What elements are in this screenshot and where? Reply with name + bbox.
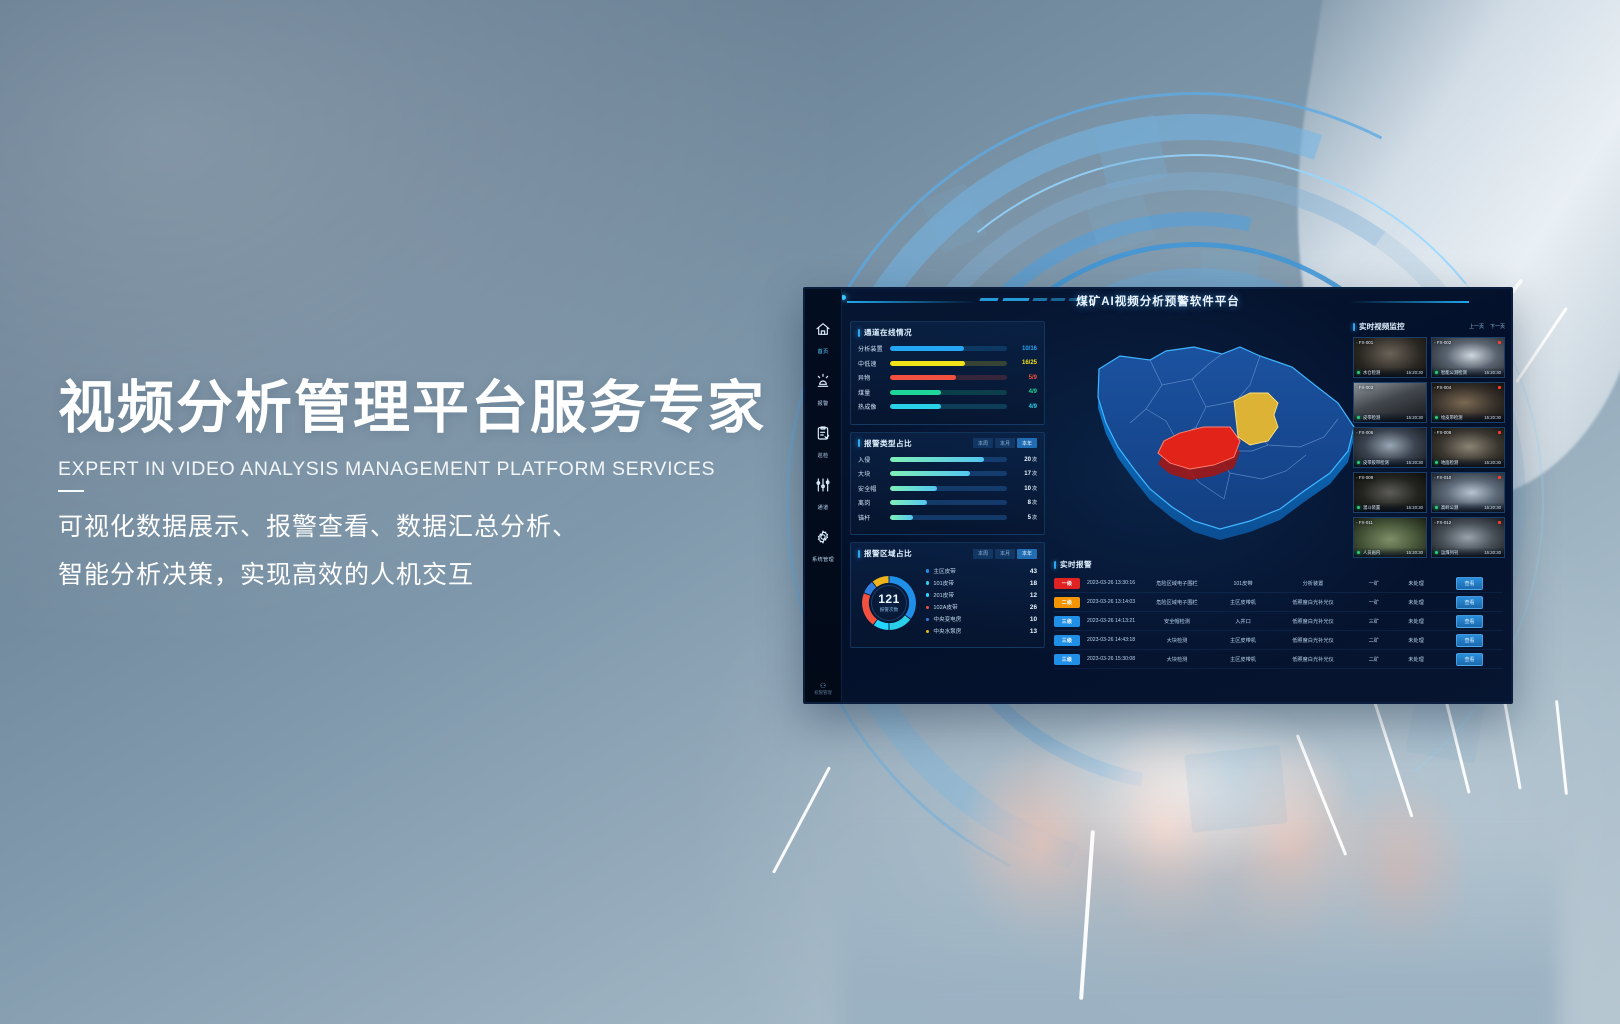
alarm-type: 安全帽检测	[1142, 618, 1212, 625]
sidebar-label: 报警	[818, 401, 829, 407]
alarm-channel: 主区皮带机	[1212, 637, 1274, 644]
alarm-type-value: 20次	[1007, 456, 1037, 463]
video-grid: FX-001水仓检测15:20:30FX-002智能公测检测15:20:30FX…	[1353, 337, 1505, 558]
video-cell[interactable]: FX-001水仓检测15:20:30	[1353, 337, 1427, 378]
alarm-type-bar	[890, 500, 1007, 505]
alarm-type-name: 入侵	[858, 455, 890, 464]
alarm-type-card: 报警类型占比 本周本月本年 入侵20次大块17次安全帽10次离岗8次锚杆5次	[850, 432, 1045, 536]
legend-label: 中央水泵房	[933, 627, 1030, 635]
channel-value: 4/9	[1007, 404, 1037, 410]
alarm-channel: 入井口	[1212, 618, 1274, 625]
legend-label: 中央变电房	[933, 615, 1030, 623]
alarm-type-value: 8次	[1007, 499, 1037, 506]
alarm-channel: 主区皮带机	[1212, 656, 1274, 663]
alarm-type-name: 安全帽	[858, 484, 890, 493]
video-status-bar: 人员画内15:20:30	[1354, 548, 1426, 557]
channel-row: 分析装置10/16	[858, 344, 1037, 353]
camera-time: 15:20:30	[1484, 460, 1501, 465]
hero-divider	[58, 490, 84, 492]
record-indicator-icon	[1498, 386, 1501, 389]
legend-color-dot	[926, 606, 929, 609]
online-dot-icon	[1435, 461, 1438, 464]
alarm-type: 危险区域电子围栏	[1142, 580, 1212, 587]
video-cell[interactable]: FX-004绘皮带检测15:20:30	[1431, 382, 1505, 423]
sidebar-item-inspection[interactable]: 巡检	[806, 425, 840, 462]
period-tabs[interactable]: 本周本月本年	[973, 549, 1037, 559]
camera-id: FX-004	[1434, 385, 1451, 390]
record-indicator-icon	[1498, 476, 1501, 479]
hero-subtitle-en: EXPERT IN VIDEO ANALYSIS MANAGEMENT PLAT…	[58, 458, 838, 481]
video-cell[interactable]: FX-010高岭公测15:20:30	[1431, 472, 1505, 513]
gear-icon	[806, 529, 840, 546]
video-status-bar: 地面检测15:20:30	[1432, 458, 1504, 467]
camera-name: 人员画内	[1363, 550, 1406, 556]
next-page-button[interactable]: 下一页	[1490, 323, 1505, 330]
alarm-device: 低照度白光补光仪	[1274, 618, 1352, 625]
channel-name: 煤量	[858, 388, 890, 397]
video-status-bar: 智能公测检测15:20:30	[1432, 368, 1504, 377]
video-status-bar: 运煤列刊15:20:30	[1432, 548, 1504, 557]
camera-id: FX-009	[1356, 475, 1373, 480]
alarm-type-row: 锚杆5次	[858, 513, 1037, 522]
legend-value: 43	[1030, 568, 1037, 575]
alarm-type-bar	[890, 471, 1007, 476]
camera-name: 水仓检测	[1363, 370, 1406, 376]
legend-label: 201皮带	[933, 591, 1030, 599]
channel-name: 分析装置	[858, 344, 890, 353]
alarm-type: 大块检测	[1142, 656, 1212, 663]
camera-time: 15:20:30	[1406, 505, 1423, 510]
alarm-device: 低照度白光补光仪	[1274, 656, 1352, 663]
camera-id: FX-001	[1356, 340, 1373, 345]
camera-name: 智能公测检测	[1441, 370, 1484, 376]
channel-value: 5/9	[1007, 375, 1037, 381]
period-tabs[interactable]: 本周本月本年	[973, 438, 1037, 448]
channel-progress-bar	[890, 361, 1007, 366]
camera-name: 皮带检测	[1363, 415, 1406, 421]
legend-label: 101皮带	[933, 579, 1030, 587]
hero-line-1: 可视化数据展示、报警查看、数据汇总分析、	[58, 506, 838, 550]
sidebar-label: 巡检	[818, 453, 829, 459]
video-status-bar: 高岭公测15:20:30	[1432, 503, 1504, 512]
sidebar-label: 通道	[818, 505, 829, 511]
video-cell[interactable]: FX-008地面检测15:20:30	[1431, 427, 1505, 468]
card-title: 实时报警	[1054, 559, 1092, 570]
camera-time: 15:20:30	[1484, 415, 1501, 420]
legend-label: 102A皮带	[933, 603, 1030, 611]
alarm-type-bar	[890, 515, 1007, 520]
online-dot-icon	[1435, 416, 1438, 419]
alarm-channel: 101皮带	[1212, 580, 1274, 587]
camera-id: FX-003	[1356, 385, 1373, 390]
alarm-type: 大块检测	[1142, 637, 1212, 644]
camera-time: 15:20:30	[1406, 415, 1423, 420]
online-dot-icon	[1357, 506, 1360, 509]
camera-time: 15:20:30	[1406, 370, 1423, 375]
hand-fade-overlay	[840, 830, 1560, 1024]
video-cell[interactable]: FX-009溜斗装置15:20:30	[1353, 472, 1427, 513]
sidebar-item-home[interactable]: 首页	[806, 321, 840, 358]
sidebar-label: 首页	[818, 349, 829, 355]
channel-row: 煤量4/9	[858, 388, 1037, 397]
video-status-bar: 绘皮带检测15:20:30	[1432, 413, 1504, 422]
legend-value: 10	[1030, 616, 1037, 623]
alarm-type-rows: 入侵20次大块17次安全帽10次离岗8次锚杆5次	[858, 455, 1037, 522]
alarm-light-icon	[806, 373, 840, 390]
online-dot-icon	[1435, 371, 1438, 374]
tab-本月[interactable]: 本月	[995, 438, 1015, 448]
camera-id: FX-012	[1434, 520, 1451, 525]
channel-name: 异物	[858, 373, 890, 382]
record-indicator-icon	[1498, 431, 1501, 434]
legend-color-dot	[926, 593, 929, 596]
card-title: 报警类型占比	[858, 438, 912, 449]
sidebar-footer[interactable]: ⚇ 权限管理	[805, 682, 841, 696]
video-cell[interactable]: FX-002智能公测检测15:20:30	[1431, 337, 1505, 378]
legend-value: 26	[1030, 604, 1037, 611]
online-dot-icon	[1435, 551, 1438, 554]
video-status-bar: 水仓检测15:20:30	[1354, 368, 1426, 377]
alarm-type-name: 锚杆	[858, 513, 890, 522]
camera-id: FX-002	[1434, 340, 1451, 345]
decor-plate	[1184, 745, 1288, 833]
tab-本年[interactable]: 本年	[1017, 549, 1037, 559]
channel-rows: 分析装置10/16中低速16/25异物5/9煤量4/9热成像4/9	[858, 344, 1037, 411]
dashboard-sidebar: 首页 报警 巡检	[805, 289, 842, 702]
user-shield-icon: ⚇	[805, 682, 841, 690]
channel-name: 热成像	[858, 402, 890, 411]
sidebar-item-alarm[interactable]: 报警	[806, 373, 840, 410]
legend-color-dot	[926, 618, 929, 621]
video-cell[interactable]: FX-003皮带检测15:20:30	[1353, 382, 1427, 423]
alarm-type-value: 5次	[1007, 514, 1037, 521]
camera-name: 运煤列刊	[1441, 550, 1484, 556]
camera-time: 15:20:30	[1484, 370, 1501, 375]
video-status-bar: 溜斗装置15:20:30	[1354, 503, 1426, 512]
dashboard-content: 通道在线情况 分析装置10/16中低速16/25异物5/9煤量4/9热成像4/9…	[842, 289, 1511, 702]
status-badge: 一级	[1054, 578, 1080, 589]
camera-id: FX-006	[1356, 430, 1373, 435]
alarm-type-row: 安全帽10次	[858, 484, 1037, 493]
sidebar-label: 系统管理	[812, 557, 834, 563]
alarm-type-row: 入侵20次	[858, 455, 1037, 464]
alarm-type-row: 大块17次	[858, 469, 1037, 478]
camera-name: 绘皮带检测	[1441, 415, 1484, 421]
camera-name: 溜斗装置	[1363, 505, 1406, 511]
alarm-type-row: 离岗8次	[858, 498, 1037, 507]
status-badge: 三级	[1054, 654, 1080, 665]
card-title: 通道在线情况	[858, 327, 912, 338]
alarm-type: 危险区域电子围栏	[1142, 599, 1212, 606]
home-icon	[806, 321, 840, 338]
channel-progress-bar	[890, 346, 1007, 351]
clipboard-check-icon	[806, 425, 840, 442]
prev-page-button[interactable]: 上一页	[1469, 323, 1484, 330]
video-panel-title: 实时视频监控	[1353, 321, 1405, 332]
decor-plate	[1094, 114, 1168, 189]
alarm-type-name: 离岗	[858, 498, 890, 507]
tab-本月[interactable]: 本月	[995, 549, 1015, 559]
legend-label: 主区皮带	[933, 567, 1030, 575]
alarm-area-donut-chart: 121 报警次数	[858, 572, 920, 634]
legend-item: 中央变电房10	[926, 615, 1037, 623]
legend-item: 201皮带12	[926, 591, 1037, 599]
legend-value: 13	[1030, 628, 1037, 635]
online-dot-icon	[1357, 551, 1360, 554]
camera-id: FX-011	[1356, 520, 1373, 525]
camera-time: 15:20:30	[1406, 460, 1423, 465]
video-monitor-panel: 实时视频监控 上一页 下一页 FX-001水仓检测15:20:30FX-002智…	[1353, 321, 1505, 694]
alarm-type-bar	[890, 457, 1007, 462]
donut-segment-5[interactable]	[875, 580, 889, 585]
camera-time: 15:20:30	[1406, 550, 1423, 555]
legend-item: 101皮带18	[926, 579, 1037, 587]
record-indicator-icon	[1498, 341, 1501, 344]
tab-本周[interactable]: 本周	[973, 438, 993, 448]
dashboard-monitor: 煤矿AI视频分析预警软件平台 首页 报警	[803, 287, 1513, 704]
tab-本周[interactable]: 本周	[973, 549, 993, 559]
status-badge: 三级	[1054, 616, 1080, 627]
alarm-type-name: 大块	[858, 469, 890, 478]
camera-id: FX-010	[1434, 475, 1451, 480]
alarm-type-value: 10次	[1007, 485, 1037, 492]
page-title: 视频分析管理平台服务专家	[58, 378, 838, 438]
channel-status-card: 通道在线情况 分析装置10/16中低速16/25异物5/9煤量4/9热成像4/9	[850, 321, 1045, 425]
donut-center-value: 121	[878, 593, 900, 605]
dashboard-screen: 煤矿AI视频分析预警软件平台 首页 报警	[805, 289, 1511, 702]
alarm-type-value: 17次	[1007, 470, 1037, 477]
tab-本年[interactable]: 本年	[1017, 438, 1037, 448]
camera-time: 15:20:30	[1484, 505, 1501, 510]
donut-legend: 主区皮带43101皮带18201皮带12102A皮带26中央变电房10中央水泵房…	[926, 567, 1037, 640]
legend-color-dot	[926, 581, 929, 584]
alarm-area-card: 报警区域占比 本周本月本年 121 报警次数 主区皮带43101皮带18201皮…	[850, 542, 1045, 648]
camera-name: 高岭公测	[1441, 505, 1484, 511]
video-cell[interactable]: FX-011人员画内15:20:30	[1353, 517, 1427, 558]
channel-row: 热成像4/9	[858, 402, 1037, 411]
alarm-time: 2023-03-26 13:14:03	[1080, 599, 1142, 605]
channel-progress-bar	[890, 404, 1007, 409]
hero-copy: 视频分析管理平台服务专家 EXPERT IN VIDEO ANALYSIS MA…	[58, 378, 838, 598]
province-map[interactable]	[1054, 323, 1384, 555]
legend-item: 中央水泵房13	[926, 627, 1037, 635]
sidebar-item-channel[interactable]: 通道	[806, 477, 840, 514]
channel-progress-bar	[890, 390, 1007, 395]
left-column: 通道在线情况 分析装置10/16中低速16/25异物5/9煤量4/9热成像4/9…	[850, 321, 1045, 648]
camera-time: 15:20:30	[1484, 550, 1501, 555]
alarm-device: 低照度白光补光仪	[1274, 637, 1352, 644]
online-dot-icon	[1435, 506, 1438, 509]
legend-value: 18	[1030, 580, 1037, 587]
alarm-time: 2023-03-26 14:43:18	[1080, 637, 1142, 643]
card-title: 报警区域占比	[858, 548, 912, 559]
status-badge: 三级	[1054, 635, 1080, 646]
video-status-bar: 皮带胶带检测15:20:30	[1354, 458, 1426, 467]
record-indicator-icon	[1498, 521, 1501, 524]
legend-item: 102A皮带26	[926, 603, 1037, 611]
camera-name: 皮带胶带检测	[1363, 460, 1406, 466]
video-cell[interactable]: FX-012运煤列刊15:20:30	[1431, 517, 1505, 558]
channel-value: 16/25	[1007, 360, 1037, 366]
legend-color-dot	[926, 569, 929, 572]
status-badge: 二级	[1054, 597, 1080, 608]
donut-center-caption: 报警次数	[880, 607, 898, 613]
hero-line-2: 智能分析决策，实现高效的人机交互	[58, 554, 838, 598]
camera-name: 地面检测	[1441, 460, 1484, 466]
channel-row: 异物5/9	[858, 373, 1037, 382]
video-status-bar: 皮带检测15:20:30	[1354, 413, 1426, 422]
online-dot-icon	[1357, 371, 1360, 374]
alarm-device: 分析装置	[1274, 580, 1352, 587]
legend-color-dot	[926, 630, 929, 633]
alarm-time: 2023-03-26 15:30:08	[1080, 656, 1142, 662]
channel-row: 中低速16/25	[858, 359, 1037, 368]
camera-id: FX-008	[1434, 430, 1451, 435]
channel-value: 10/16	[1007, 346, 1037, 352]
online-dot-icon	[1357, 461, 1360, 464]
alarm-device: 低照度白光补光仪	[1274, 599, 1352, 606]
channel-value: 4/9	[1007, 389, 1037, 395]
alarm-time: 2023-03-26 14:13:21	[1080, 618, 1142, 624]
online-dot-icon	[1357, 416, 1360, 419]
channel-name: 中低速	[858, 359, 890, 368]
donut-segment-2[interactable]	[876, 623, 889, 627]
channel-progress-bar	[890, 375, 1007, 380]
legend-value: 12	[1030, 592, 1037, 599]
video-cell[interactable]: FX-006皮带胶带检测15:20:30	[1353, 427, 1427, 468]
sidebar-footer-label: 权限管理	[814, 690, 832, 695]
alarm-channel: 主区皮带机	[1212, 599, 1274, 606]
channel-nodes-icon	[806, 477, 840, 494]
legend-item: 主区皮带43	[926, 567, 1037, 575]
alarm-time: 2023-03-26 13:30:16	[1080, 580, 1142, 586]
alarm-type-bar	[890, 486, 1007, 491]
sidebar-item-system[interactable]: 系统管理	[806, 529, 840, 566]
